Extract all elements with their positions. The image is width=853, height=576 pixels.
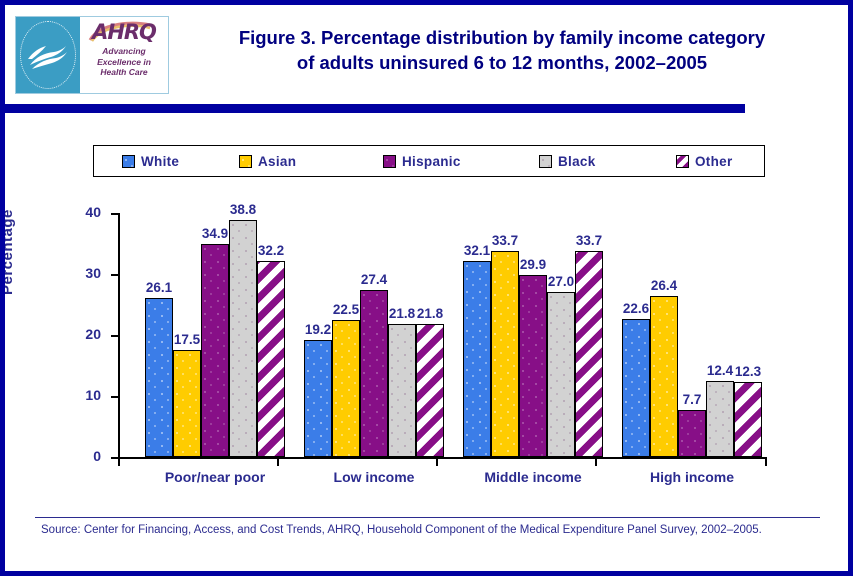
legend-item-white[interactable]: White — [122, 154, 179, 169]
x-tick-2 — [436, 457, 438, 466]
bar-hispanic-low-income[interactable]: 27.4 — [360, 290, 388, 457]
ahrq-wordmark: AHRQ Advancing Excellence in Health Care — [80, 17, 168, 93]
bar-group-0: 26.117.534.938.832.2 — [145, 213, 285, 457]
legend-swatch-other — [676, 155, 689, 168]
legend-swatch-black — [539, 155, 552, 168]
bar-asian-high-income[interactable]: 26.4 — [650, 296, 678, 457]
legend-item-other[interactable]: Other — [676, 154, 733, 169]
bar-value-label: 19.2 — [305, 322, 331, 337]
bar-value-label: 21.8 — [389, 306, 415, 321]
title-line-1: Figure 3. Percentage distribution by fam… — [177, 25, 827, 50]
y-tick-label-20: 20 — [57, 326, 101, 342]
bar-group-bars: 32.133.729.927.033.7 — [463, 213, 603, 457]
hhs-bird-icon — [26, 35, 70, 75]
figure-page: AHRQ Advancing Excellence in Health Care… — [0, 0, 853, 576]
bar-asian-poor-near-poor[interactable]: 17.5 — [173, 350, 201, 457]
bar-value-label: 22.6 — [623, 301, 649, 316]
source-note: Source: Center for Financing, Access, an… — [41, 523, 831, 538]
y-axis-label: Percentage — [0, 209, 16, 295]
bar-value-label: 21.8 — [417, 306, 443, 321]
bar-hispanic-high-income[interactable]: 7.7 — [678, 410, 706, 457]
bar-chart: Percentage 010203040 26.117.534.938.832.… — [5, 185, 848, 495]
bar-value-label: 27.4 — [361, 272, 387, 287]
bar-group-bars: 19.222.527.421.821.8 — [304, 213, 444, 457]
legend-item-asian[interactable]: Asian — [239, 154, 296, 169]
x-tick-3 — [595, 457, 597, 466]
plot-area: 26.117.534.938.832.219.222.527.421.821.8… — [118, 213, 765, 457]
tagline-line-3: Health Care — [100, 67, 147, 77]
tagline-line-2: Excellence in — [97, 57, 151, 67]
y-tick-label-30: 30 — [57, 265, 101, 281]
bar-white-poor-near-poor[interactable]: 26.1 — [145, 298, 173, 457]
legend-label-asian: Asian — [258, 154, 296, 169]
bar-value-label: 33.7 — [576, 233, 602, 248]
y-tick-label-0: 0 — [57, 448, 101, 464]
legend-label-black: Black — [558, 154, 596, 169]
header-divider — [5, 104, 745, 113]
legend-label-hispanic: Hispanic — [402, 154, 461, 169]
footer-divider — [35, 517, 820, 518]
figure-header: AHRQ Advancing Excellence in Health Care… — [5, 5, 848, 97]
bar-asian-low-income[interactable]: 22.5 — [332, 320, 360, 457]
bar-other-middle-income[interactable]: 33.7 — [575, 251, 603, 457]
bar-other-poor-near-poor[interactable]: 32.2 — [257, 261, 285, 457]
x-tick-1 — [277, 457, 279, 466]
bar-value-label: 38.8 — [230, 202, 256, 217]
bar-group-2: 32.133.729.927.033.7 — [463, 213, 603, 457]
tagline-line-1: Advancing — [102, 46, 145, 56]
bar-group-bars: 26.117.534.938.832.2 — [145, 213, 285, 457]
bar-value-label: 26.1 — [146, 280, 172, 295]
legend-item-black[interactable]: Black — [539, 154, 596, 169]
hhs-seal-icon — [16, 17, 80, 93]
bar-value-label: 7.7 — [683, 392, 702, 407]
x-tick-4 — [765, 457, 767, 466]
bar-value-label: 17.5 — [174, 332, 200, 347]
bar-white-low-income[interactable]: 19.2 — [304, 340, 332, 457]
bar-white-high-income[interactable]: 22.6 — [622, 319, 650, 457]
title-line-2: of adults uninsured 6 to 12 months, 2002… — [177, 50, 827, 75]
bar-value-label: 32.2 — [258, 243, 284, 258]
legend-swatch-white — [122, 155, 135, 168]
figure-title: Figure 3. Percentage distribution by fam… — [177, 25, 827, 75]
x-axis-label-low-income: Low income — [334, 469, 415, 485]
y-tick-label-10: 10 — [57, 387, 101, 403]
bar-value-label: 32.1 — [464, 243, 490, 258]
legend-label-other: Other — [695, 154, 733, 169]
bar-group-bars: 22.626.47.712.412.3 — [622, 213, 762, 457]
bar-group-3: 22.626.47.712.412.3 — [622, 213, 762, 457]
x-axis-label-high-income: High income — [650, 469, 734, 485]
bar-group-1: 19.222.527.421.821.8 — [304, 213, 444, 457]
bar-white-middle-income[interactable]: 32.1 — [463, 261, 491, 457]
bar-black-poor-near-poor[interactable]: 38.8 — [229, 220, 257, 457]
x-axis-label-middle-income: Middle income — [484, 469, 581, 485]
bar-hispanic-poor-near-poor[interactable]: 34.9 — [201, 244, 229, 457]
bar-value-label: 12.3 — [735, 364, 761, 379]
bar-value-label: 26.4 — [651, 278, 677, 293]
bar-value-label: 27.0 — [548, 274, 574, 289]
bar-asian-middle-income[interactable]: 33.7 — [491, 251, 519, 457]
legend-label-white: White — [141, 154, 179, 169]
bar-value-label: 12.4 — [707, 363, 733, 378]
x-tick-0 — [118, 457, 120, 466]
bar-value-label: 34.9 — [202, 226, 228, 241]
x-axis-line — [118, 457, 767, 459]
bar-value-label: 33.7 — [492, 233, 518, 248]
bar-other-high-income[interactable]: 12.3 — [734, 382, 762, 457]
bar-value-label: 22.5 — [333, 302, 359, 317]
ahrq-brand-text: AHRQ — [80, 21, 168, 44]
bar-hispanic-middle-income[interactable]: 29.9 — [519, 275, 547, 457]
legend-item-hispanic[interactable]: Hispanic — [383, 154, 461, 169]
bar-other-low-income[interactable]: 21.8 — [416, 324, 444, 457]
bar-black-middle-income[interactable]: 27.0 — [547, 292, 575, 457]
bar-black-high-income[interactable]: 12.4 — [706, 381, 734, 457]
bar-value-label: 29.9 — [520, 257, 546, 272]
x-axis-label-poor-near-poor: Poor/near poor — [165, 469, 265, 485]
ahrq-logo: AHRQ Advancing Excellence in Health Care — [15, 16, 169, 94]
y-tick-label-40: 40 — [57, 204, 101, 220]
chart-legend: WhiteAsianHispanicBlackOther — [93, 145, 765, 177]
bar-black-low-income[interactable]: 21.8 — [388, 324, 416, 457]
legend-swatch-asian — [239, 155, 252, 168]
legend-swatch-hispanic — [383, 155, 396, 168]
ahrq-tagline: Advancing Excellence in Health Care — [80, 46, 168, 78]
